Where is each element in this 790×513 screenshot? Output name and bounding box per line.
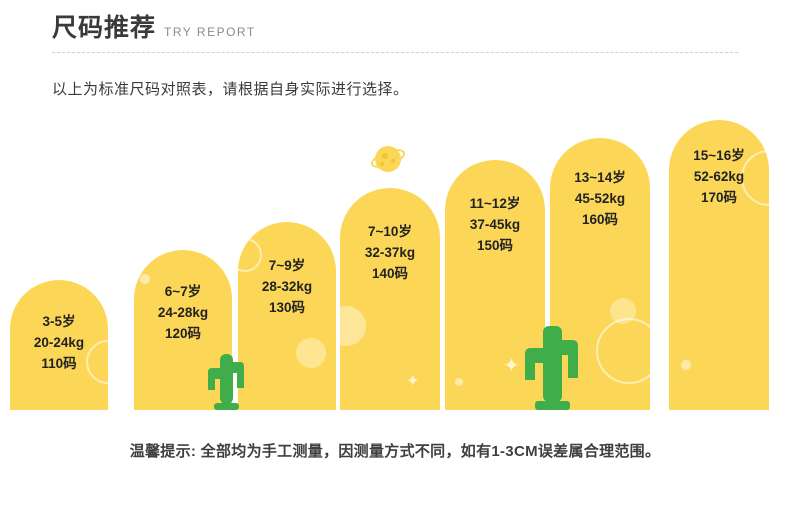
- size-chart: 3-5岁 20-24kg 110码 6~7岁 24-28kg 120码 7~9岁…: [0, 120, 790, 410]
- bar-label-120: 6~7岁 24-28kg 120码: [134, 282, 232, 345]
- bottom-note: 温馨提示: 全部均为手工测量，因测量方式不同，如有1-3CM误差属合理范围。: [0, 440, 790, 461]
- decorative-dot-icon: [340, 306, 366, 346]
- page-header: 尺码推荐 TRY REPORT: [52, 16, 256, 41]
- bar-170: 15~16岁 52-62kg 170码: [669, 120, 769, 410]
- bar-label-140: 7~10岁 32-37kg 140码: [340, 222, 440, 285]
- page-title: 尺码推荐: [52, 16, 156, 41]
- decorative-star-icon: ✦: [406, 374, 419, 390]
- decorative-dot-icon: [455, 378, 463, 386]
- decorative-ring-icon: [596, 318, 650, 384]
- bar-140: ✦ 7~10岁 32-37kg 140码: [340, 188, 440, 410]
- cactus-icon: [206, 348, 246, 410]
- bar-label-160: 13~14岁 45-52kg 160码: [550, 168, 650, 231]
- bar-label-170: 15~16岁 52-62kg 170码: [669, 146, 769, 209]
- top-note: 以上为标准尺码对照表，请根据自身实际进行选择。: [52, 78, 409, 99]
- decorative-dot-icon: [296, 338, 326, 368]
- decorative-dot-icon: [681, 360, 691, 370]
- decorative-star-icon: ✦: [503, 356, 520, 376]
- size-recommendation-page: 尺码推荐 TRY REPORT 以上为标准尺码对照表，请根据自身实际进行选择。 …: [0, 0, 790, 513]
- planet-icon: [371, 142, 405, 176]
- header-divider: [52, 52, 738, 53]
- page-subtitle: TRY REPORT: [164, 25, 256, 41]
- decorative-dot-icon: [610, 298, 636, 324]
- bar-130: 7~9岁 28-32kg 130码: [238, 222, 336, 410]
- bar-label-110: 3-5岁 20-24kg 110码: [10, 312, 108, 375]
- bar-label-130: 7~9岁 28-32kg 130码: [238, 256, 336, 319]
- bar-label-150: 11~12岁 37-45kg 150码: [445, 194, 545, 257]
- bar-110: 3-5岁 20-24kg 110码: [10, 280, 108, 410]
- cactus-icon: [523, 318, 581, 410]
